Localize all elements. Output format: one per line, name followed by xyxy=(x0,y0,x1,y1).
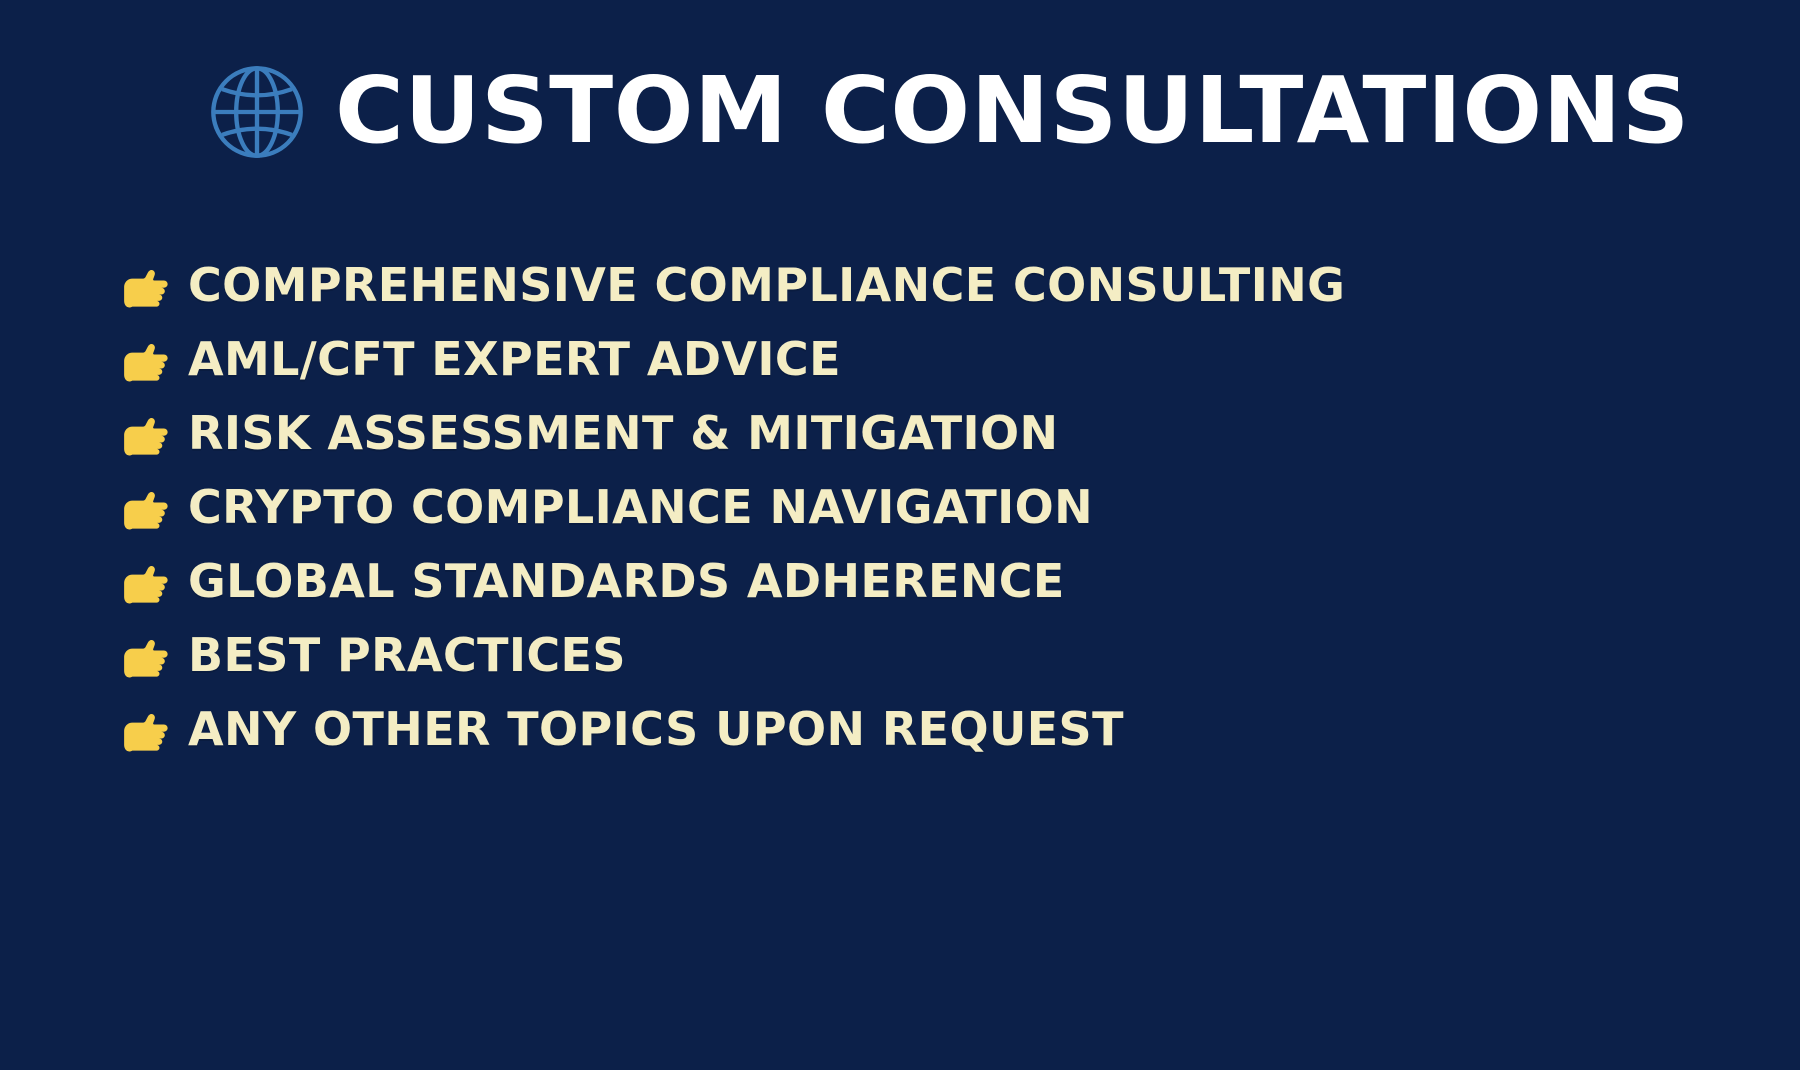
list-item-label: ANY OTHER TOPICS UPON REQUEST xyxy=(188,706,1124,752)
slide-canvas: CUSTOM CONSULTATIONS COMPREHENSIVE COMPL… xyxy=(0,0,1800,1070)
pointing-right-hand-icon xyxy=(118,412,174,458)
list-item-label: BEST PRACTICES xyxy=(188,632,626,678)
list-item: BEST PRACTICES xyxy=(118,618,1678,692)
page-title: CUSTOM CONSULTATIONS xyxy=(335,65,1690,157)
list-item-label: RISK ASSESSMENT & MITIGATION xyxy=(188,410,1058,456)
pointing-right-hand-icon xyxy=(118,708,174,754)
globe-icon xyxy=(205,60,309,164)
list-item: GLOBAL STANDARDS ADHERENCE xyxy=(118,544,1678,618)
pointing-right-hand-icon xyxy=(118,338,174,384)
list-item: AML/CFT EXPERT ADVICE xyxy=(118,322,1678,396)
pointing-right-hand-icon xyxy=(118,486,174,532)
services-list: COMPREHENSIVE COMPLIANCE CONSULTING AML/… xyxy=(118,248,1678,766)
pointing-right-hand-icon xyxy=(118,634,174,680)
list-item: RISK ASSESSMENT & MITIGATION xyxy=(118,396,1678,470)
list-item: CRYPTO COMPLIANCE NAVIGATION xyxy=(118,470,1678,544)
list-item: ANY OTHER TOPICS UPON REQUEST xyxy=(118,692,1678,766)
pointing-right-hand-icon xyxy=(118,560,174,606)
slide-header: CUSTOM CONSULTATIONS xyxy=(0,58,1800,164)
list-item-label: AML/CFT EXPERT ADVICE xyxy=(188,336,841,382)
list-item-label: GLOBAL STANDARDS ADHERENCE xyxy=(188,558,1065,604)
list-item: COMPREHENSIVE COMPLIANCE CONSULTING xyxy=(118,248,1678,322)
list-item-label: CRYPTO COMPLIANCE NAVIGATION xyxy=(188,484,1093,530)
pointing-right-hand-icon xyxy=(118,264,174,310)
list-item-label: COMPREHENSIVE COMPLIANCE CONSULTING xyxy=(188,262,1345,308)
